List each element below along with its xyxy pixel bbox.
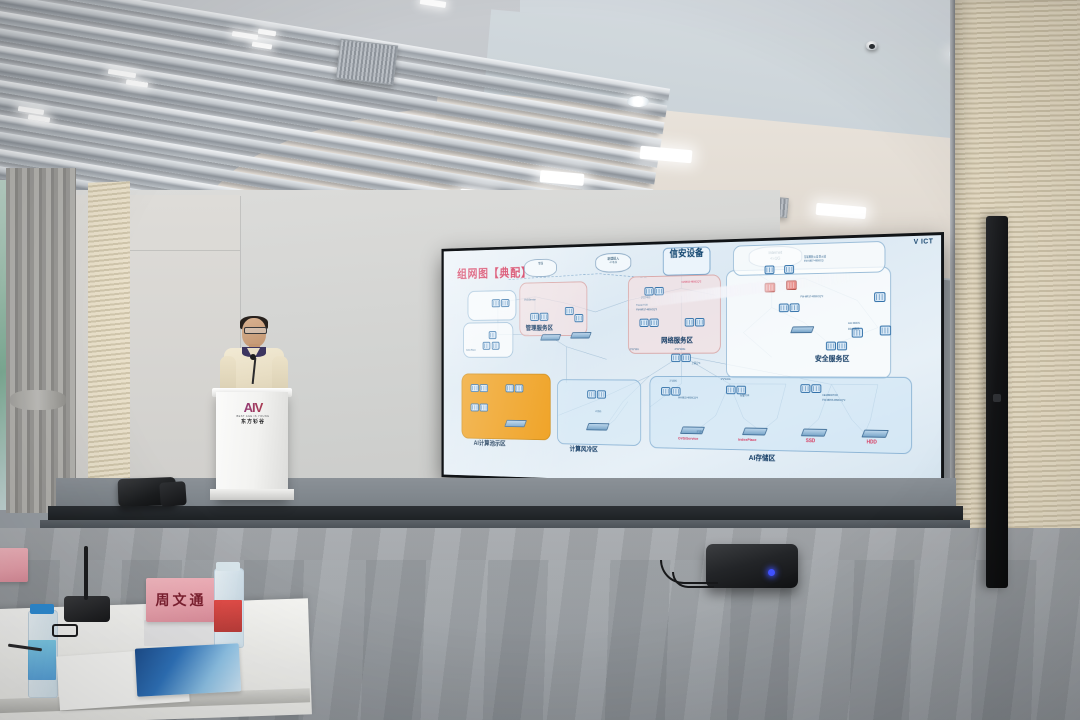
- zone-label-aircooled: 计算风冷区: [570, 444, 598, 454]
- bottle-cap: [216, 562, 240, 571]
- storage-sled-ssd: [801, 429, 828, 437]
- network-node: [661, 387, 670, 395]
- network-node: [515, 384, 524, 392]
- ceiling-downlight: [627, 96, 649, 107]
- podium-logo-mark: AIV: [224, 400, 282, 415]
- network-node: [685, 318, 694, 327]
- annotation: CE16800/TOR: [822, 394, 838, 397]
- table-microphone-gooseneck: [84, 546, 88, 600]
- annotation: FW-MR17-48S6CQ*2: [800, 295, 823, 298]
- header-box-security-equipment: 信安设备: [663, 246, 711, 275]
- network-node: [790, 303, 800, 312]
- network-node: [480, 384, 488, 392]
- annotation: IHA9815-48S6CQ*2: [681, 280, 701, 283]
- annotation: OVS/Service: [524, 299, 536, 302]
- nameplate: 周文通: [146, 578, 216, 622]
- annotation: 4*25G: [595, 410, 601, 413]
- network-node: [779, 303, 789, 312]
- curtain: [6, 168, 76, 513]
- cloud-new-access: 新建接入 <=1G: [595, 253, 631, 273]
- device-label-ovs: OVS/Service: [678, 436, 698, 441]
- server-sled: [790, 326, 814, 333]
- nameplate: [0, 548, 28, 582]
- photo-scene: 组网图【典配】 V ICT 信安设备 Internet <=1G 新建接入 <=…: [0, 0, 1080, 720]
- network-node: [540, 313, 549, 321]
- slide-surface: 组网图【典配】 V ICT 信安设备 Internet <=1G 新建接入 <=…: [444, 235, 941, 491]
- annotation: IHA9815-48S6CQ*4: [678, 397, 698, 400]
- annotation: 2*21*100G: [675, 348, 686, 351]
- network-node: [671, 354, 680, 362]
- network-node: [492, 342, 500, 350]
- device-label-index: IndexPlace: [738, 437, 756, 442]
- network-node: [644, 287, 653, 296]
- booklet: [135, 643, 241, 696]
- network-node: [565, 307, 574, 315]
- speaker-power-led: [768, 569, 775, 576]
- network-node: [811, 384, 821, 393]
- storage-sled-index: [742, 428, 768, 436]
- zone-label-ai-compute: AI计算池示区: [474, 439, 506, 449]
- network-node: [654, 287, 663, 296]
- annotation: 2*25G: [697, 430, 703, 433]
- network-node: [574, 314, 583, 322]
- annotation: IndexPlace: [466, 349, 476, 352]
- network-node: [826, 342, 836, 351]
- network-node: [480, 404, 488, 412]
- network-node: [726, 386, 736, 395]
- podium-logo-name: 东方钐谷: [224, 418, 282, 425]
- glasses: [244, 327, 267, 334]
- network-node: [880, 326, 891, 336]
- ceiling-air-diffuser: [336, 39, 398, 86]
- network-node: [800, 384, 810, 393]
- network-node: [874, 292, 885, 302]
- zone-label-ai-storage: AI存储区: [749, 452, 776, 463]
- network-node: [784, 265, 794, 274]
- firewall-node: [765, 283, 776, 293]
- annotation: 2*100G: [670, 380, 677, 383]
- speaker-driver: [993, 394, 1001, 402]
- curtain-tieback: [10, 390, 66, 410]
- network-node: [483, 342, 491, 350]
- brand-logo: V ICT: [914, 238, 934, 246]
- podium-base: [210, 489, 294, 500]
- annotation: 2*21*40G: [641, 296, 650, 299]
- annotation: DDoS清洗: [848, 327, 859, 331]
- cloud-office-network: 专线: [524, 259, 557, 278]
- network-node: [639, 319, 648, 327]
- line-array-speaker: [986, 216, 1008, 588]
- eyeglasses: [52, 624, 78, 637]
- network-node: [471, 384, 479, 392]
- server-sled: [504, 420, 527, 427]
- annotation: 上联口*4: [692, 361, 701, 365]
- device-label-ssd: SSD: [806, 438, 815, 444]
- server-sled: [586, 423, 610, 431]
- bottle-cap: [30, 604, 54, 614]
- network-node: [671, 387, 680, 395]
- cloud-sublabel: <=1G: [610, 261, 617, 265]
- network-node: [501, 299, 509, 307]
- network-node: [649, 319, 658, 327]
- nameplate-stand: [144, 620, 218, 646]
- network-node: [471, 403, 479, 411]
- bottle-label: [214, 600, 242, 632]
- wall-seam: [120, 250, 240, 251]
- stage-monitor-speaker: [159, 481, 187, 507]
- cloud-sublabel: 专线: [538, 262, 543, 266]
- annotation: FW 6857-48S6CQ: [804, 259, 823, 262]
- slide-title: 组网图【典配】: [457, 263, 532, 282]
- dome-camera-icon: [866, 41, 878, 50]
- annotation: 互联网防火墙 防火墙: [804, 254, 826, 258]
- zone-security-service: [726, 266, 891, 378]
- annotation: Transit TOR: [636, 304, 648, 307]
- network-node: [530, 313, 539, 321]
- server-sled: [540, 334, 561, 340]
- firewall-node: [786, 280, 797, 290]
- zone-ops-access: [463, 322, 513, 358]
- led-video-wall[interactable]: 组网图【典配】 V ICT 信安设备 Internet <=1G 新建接入 <=…: [442, 232, 944, 494]
- zone-label-network: 网络服务区: [661, 335, 693, 345]
- network-node: [492, 299, 500, 307]
- wood-slat-wall-left: [88, 181, 130, 512]
- annotation: 2*2*100G: [721, 378, 731, 381]
- network-node: [489, 331, 497, 339]
- network-node: [587, 390, 596, 398]
- network-node: [506, 384, 514, 392]
- device-label-hdd: HDD: [867, 439, 877, 445]
- podium-logo: AIV BEST AGE IS YOUNG 东方钐谷: [224, 400, 282, 430]
- zone-label-management: 管理服务区: [526, 323, 553, 332]
- floor-speaker: [706, 544, 798, 588]
- network-node: [681, 354, 690, 362]
- server-sled: [570, 332, 591, 339]
- annotation: FW-MR65-48S6CQ*2: [822, 399, 845, 402]
- network-node: [597, 390, 606, 398]
- network-node: [765, 265, 775, 274]
- annotation: 存储TOR: [740, 393, 749, 397]
- annotation: 2*21*10G: [630, 348, 639, 351]
- table-microphone-base: [64, 596, 110, 622]
- zone-label-security: 安全服务区: [815, 353, 849, 364]
- microphone-head: [250, 354, 256, 360]
- network-node: [837, 342, 847, 351]
- network-node: [695, 318, 704, 327]
- wall-panel-left: [60, 195, 240, 520]
- annotation: Anti DDOS: [848, 322, 860, 325]
- annotation: FW-MR17-48S6CQ*2: [636, 308, 657, 311]
- storage-sled-hdd: [861, 430, 888, 438]
